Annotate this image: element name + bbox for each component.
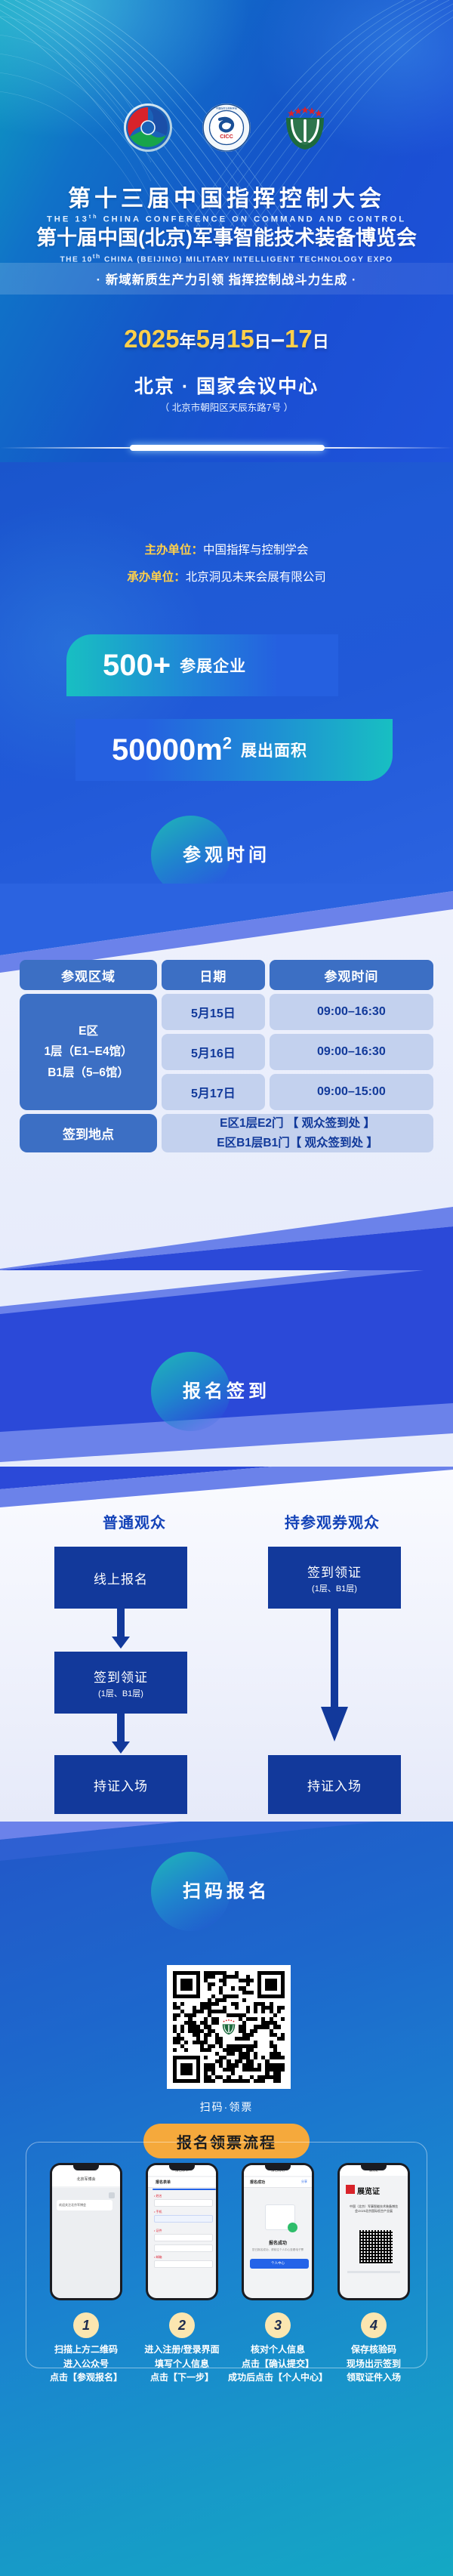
step-line: 进入注册/登录界面 — [132, 2343, 232, 2357]
area-line: E区 — [20, 1021, 157, 1041]
date-dash: – — [271, 325, 285, 353]
phone-notch — [73, 2165, 99, 2170]
slant-decoration-bottom — [0, 1180, 453, 1270]
step-line: 点击【下一步】 — [132, 2371, 232, 2385]
host-value: 中国指挥与控制学会 — [203, 544, 309, 557]
host-label: 主办单位： — [144, 544, 203, 557]
checkin-line: E区B1层B1门【 观众签到处 】 — [162, 1134, 433, 1153]
qr-center-logo — [219, 2017, 239, 2037]
phone-field-label: • 手机 — [154, 2210, 162, 2214]
phone-field-input — [154, 2234, 213, 2241]
registration-qr-code[interactable] — [167, 1965, 291, 2089]
phone-avatar — [109, 2192, 115, 2198]
phone-screen: 报名成功 报名成功 分享 报名成功 您已报名成功，请前往个人中心查看电子票 个人… — [244, 2165, 312, 2298]
step-text-4: 保存核验码 现场出示签到 领取证件入场 — [324, 2343, 424, 2385]
time-cell: 09:00–16:30 — [270, 994, 433, 1030]
time-cell: 09:00–16:30 — [270, 1034, 433, 1070]
phone-msg-text: 欢迎关注北京军博会 — [59, 2203, 86, 2207]
flow-box-checkin-badge: 签到领证 (1层、B1层) — [54, 1652, 187, 1714]
flow-col-title-voucher: 持参观券观众 — [257, 1510, 408, 1532]
flow-box-sublabel: (1层、B1层) — [98, 1687, 143, 1699]
table-header-row: 参观区域 日期 参观时间 — [20, 960, 433, 990]
date-year-unit: 年 — [180, 332, 196, 351]
phone-field-input — [154, 2260, 213, 2268]
title-en-sup: th — [89, 214, 99, 220]
title-en-post: CHINA CONFERENCE ON COMMAND AND CONTROL — [98, 214, 406, 224]
col-header-date: 日期 — [162, 960, 265, 990]
logo-row: CICC 中国指挥与控制学会 — [0, 103, 453, 153]
ticket-desc: 中国（北京）军事智能技术装备博览会/2025北京国际低空产业展 — [345, 2204, 402, 2214]
date-month: 5 — [196, 325, 210, 353]
date-cell: 5月17日 — [162, 1074, 265, 1110]
title-block: 第十三届中国指挥控制大会 THE 13th CHINA CONFERENCE O… — [0, 187, 453, 264]
phone-notch — [361, 2165, 387, 2170]
qr-registration-section: 扫码报名 扫码·领票 报名领票流程 北京军博会 欢迎关注北京军博会 — [0, 1822, 453, 2576]
flow-arrow-head — [112, 1741, 130, 1754]
stat-area-number: 50000m2 — [112, 735, 232, 765]
flow-box-label: 签到领证 — [307, 1562, 362, 1581]
date-start: 15 — [226, 325, 254, 353]
step-number-1: 1 — [73, 2312, 99, 2338]
stat-exhibitors: 500+ 参展企业 — [66, 634, 338, 696]
flow-box-online-register: 线上报名 — [54, 1547, 187, 1609]
date-end-unit: 日 — [313, 332, 329, 351]
ticket-logo-text: 展览证 — [357, 2185, 380, 2196]
phone-share-label: 分享 — [301, 2180, 307, 2184]
organizer-value: 北京洞见未来会展有限公司 — [186, 571, 326, 584]
flow-box-label: 持证入场 — [307, 1775, 362, 1794]
phone-page-title: 报名成功 — [250, 2180, 265, 2185]
organizers-stats-section: 主办单位：中国指挥与控制学会 承办单位：北京洞见未来会展有限公司 500+ 参展… — [0, 462, 453, 884]
organizer-line: 承办单位：北京洞见未来会展有限公司 — [0, 568, 453, 585]
slogan-text: · 新域新质生产力引领 指挥控制战斗力生成 · — [97, 270, 357, 288]
checkin-line: E区1层E2门 【 观众签到处 】 — [162, 1114, 433, 1134]
phone-mockup-1: 北京军博会 欢迎关注北京军博会 — [50, 2163, 122, 2300]
step-line: 现场出示签到 — [324, 2357, 424, 2371]
time-cell: 09:00–15:00 — [270, 1074, 433, 1110]
step-line: 核对个人信息 — [228, 2343, 328, 2357]
flow-arrow-head-long — [321, 1707, 348, 1741]
flow-arrow-head — [112, 1637, 130, 1649]
phone-mockup-4: 展览证 展览证 中国（北京）军事智能技术装备博览会/2025北京国际低空产业展 — [337, 2163, 410, 2300]
personal-center-button-label: 个人中心 — [244, 2261, 312, 2266]
phone-field-label: • 证件 — [154, 2229, 162, 2233]
conference-poster: CICC 中国指挥与控制学会 — [0, 0, 453, 2576]
step-line: 填写个人信息 — [132, 2357, 232, 2371]
venue-address: （ 北京市朝阳区天辰东路7号 ） — [0, 400, 453, 414]
checkin-row: 签到地点 E区1层E2门 【 观众签到处 】 E区B1层B1门【 观众签到处 】 — [20, 1114, 433, 1152]
checkin-label: 签到地点 — [20, 1114, 157, 1152]
hero-header: CICC 中国指挥与控制学会 — [0, 0, 453, 462]
phone-mockup-2: 报名表单 报名表单 • 姓名 • 手机 • 证件 • 邮箱 — [146, 2163, 218, 2300]
stat-area-value: 50000m — [112, 733, 223, 767]
ticket-qr-code — [359, 2230, 393, 2263]
date-cell: 5月15日 — [162, 994, 265, 1030]
date-cell: 5月16日 — [162, 1034, 265, 1070]
step-text-3: 核对个人信息 点击【确认提交】 成功后点击【个人中心】 — [228, 2343, 328, 2385]
visit-time-section: 参观区域 日期 参观时间 E区 1层（E1–E4馆） B1层（5–6馆） 5月1… — [0, 884, 453, 1270]
area-line: B1层（5–6馆） — [20, 1063, 157, 1083]
phone-form-title: 报名表单 — [156, 2180, 171, 2185]
signup-banner-section: 报名签到 — [0, 1270, 453, 1467]
registration-flowchart-section: 普通观众 线上报名 签到领证 (1层、B1层) 持证入场 持参观券观众 签到领证… — [0, 1467, 453, 1822]
step-text-2: 进入注册/登录界面 填写个人信息 点击【下一步】 — [132, 2343, 232, 2385]
qr-heading: 扫码报名 — [0, 1876, 453, 1902]
signup-heading: 报名签到 — [0, 1376, 453, 1402]
phone-mockup-3: 报名成功 报名成功 分享 报名成功 您已报名成功，请前往个人中心查看电子票 个人… — [242, 2163, 314, 2300]
date-end: 17 — [285, 325, 313, 353]
expo-en-sup: th — [93, 252, 101, 260]
conference-title-en: THE 13th CHINA CONFERENCE ON COMMAND AND… — [0, 214, 453, 224]
col-header-time: 参观时间 — [270, 960, 433, 990]
stat-exhibitors-number: 500+ — [103, 650, 171, 680]
phone-field-input — [154, 2199, 213, 2207]
flow-box-enter-with-badge: 持证入场 — [54, 1755, 187, 1814]
qr-caption: 扫码·领票 — [0, 2099, 453, 2115]
step-line: 进入公众号 — [36, 2357, 136, 2371]
ticket-footer-line — [347, 2271, 400, 2273]
phone-field-label: • 邮箱 — [154, 2255, 162, 2260]
stat-area-unit: 展出面积 — [241, 739, 307, 761]
venue-name: 北京 · 国家会议中心 — [0, 372, 453, 399]
success-text: 报名成功 — [244, 2239, 312, 2246]
area-line: 1层（E1–E4馆） — [20, 1041, 157, 1062]
military-expo-logo — [280, 103, 330, 153]
flow-box-label: 持证入场 — [94, 1775, 148, 1794]
title-en-pre: THE 13 — [47, 214, 89, 224]
phone-progress — [153, 2189, 216, 2190]
hero-divider — [0, 444, 453, 452]
flow-col-title-normal: 普通观众 — [74, 1510, 195, 1532]
step-line: 成功后点击【个人中心】 — [228, 2371, 328, 2385]
flow-arrow-shaft — [117, 1609, 125, 1640]
step-number-3: 3 — [265, 2312, 291, 2338]
date-year: 2025 — [124, 325, 179, 353]
date-start-unit: 日 — [254, 332, 271, 351]
slogan-bar: · 新域新质生产力引领 指挥控制战斗力生成 · — [0, 263, 453, 295]
conference-title-cn: 第十三届中国指挥控制大会 — [0, 187, 453, 212]
visit-schedule-table: 参观区域 日期 参观时间 E区 1层（E1–E4馆） B1层（5–6馆） 5月1… — [15, 956, 438, 1156]
area-cell: E区 1层（E1–E4馆） B1层（5–6馆） — [20, 994, 157, 1110]
table-row: E区 1层（E1–E4馆） B1层（5–6馆） 5月15日 09:00–16:3… — [20, 994, 433, 1030]
visit-time-heading: 参观时间 — [0, 840, 453, 866]
success-hint: 您已报名成功，请前往个人中心查看电子票 — [244, 2248, 312, 2252]
flow-box-voucher-enter: 持证入场 — [268, 1755, 401, 1814]
step-text-1: 扫描上方二维码 进入公众号 点击【参观报名】 — [36, 2343, 136, 2385]
host-line: 主办单位：中国指挥与控制学会 — [0, 541, 453, 557]
phone-notch — [169, 2165, 195, 2170]
flow-arrow-shaft — [117, 1714, 125, 1745]
checkin-value: E区1层E2门 【 观众签到处 】 E区B1层B1门【 观众签到处 】 — [162, 1114, 433, 1152]
step-number-4: 4 — [361, 2312, 387, 2338]
cicc-seal-logo: CICC 中国指挥与控制学会 — [202, 103, 251, 153]
phone-screen: 报名表单 报名表单 • 姓名 • 手机 • 证件 • 邮箱 — [148, 2165, 216, 2298]
expo-title-cn: 第十届中国(北京)军事智能技术装备博览会 — [0, 227, 453, 250]
col-header-area: 参观区域 — [20, 960, 157, 990]
phone-screen: 北京军博会 欢迎关注北京军博会 — [52, 2165, 120, 2298]
flow-box-sublabel: (1层、B1层) — [312, 1582, 357, 1594]
expo-title-en: THE 10th CHINA (BEIJING) MILITARY INTELL… — [0, 252, 453, 264]
svg-text:CICC: CICC — [220, 133, 233, 140]
flow-top-slant — [0, 1467, 453, 1512]
step-line: 领取证件入场 — [324, 2371, 424, 2385]
stat-exhibitors-unit: 参展企业 — [180, 654, 246, 677]
cicc-swirl-logo — [123, 103, 173, 153]
phone-field-input — [154, 2244, 213, 2252]
phone-title-text: 北京军博会 — [52, 2176, 120, 2182]
flow-box-label: 签到领证 — [94, 1667, 148, 1686]
step-line: 扫描上方二维码 — [36, 2343, 136, 2357]
organizer-label: 承办单位： — [127, 571, 186, 584]
phone-field-input — [154, 2215, 213, 2223]
step-number-2: 2 — [169, 2312, 195, 2338]
svg-text:中国指挥与控制学会: 中国指挥与控制学会 — [216, 106, 237, 110]
divider-highlight — [130, 445, 325, 451]
step-line: 点击【参观报名】 — [36, 2371, 136, 2385]
signup-banner-shape — [0, 1270, 453, 1467]
phone-screen: 展览证 展览证 中国（北京）军事智能技术装备博览会/2025北京国际低空产业展 — [340, 2165, 408, 2298]
date-month-unit: 月 — [210, 332, 226, 351]
success-check-icon — [288, 2223, 297, 2232]
event-date: 2025年5月15日–17日 — [0, 325, 453, 353]
ticket-logo-mark — [346, 2185, 355, 2194]
phone-notch — [265, 2165, 291, 2170]
flow-box-label: 线上报名 — [94, 1569, 148, 1587]
stat-area-sup: 2 — [223, 734, 232, 753]
step-line: 保存核验码 — [324, 2343, 424, 2357]
phone-field-label: • 姓名 — [154, 2194, 162, 2198]
stat-area: 50000m2 展出面积 — [75, 719, 393, 781]
flow-box-voucher-checkin: 签到领证 (1层、B1层) — [268, 1547, 401, 1609]
step-line: 点击【确认提交】 — [228, 2357, 328, 2371]
